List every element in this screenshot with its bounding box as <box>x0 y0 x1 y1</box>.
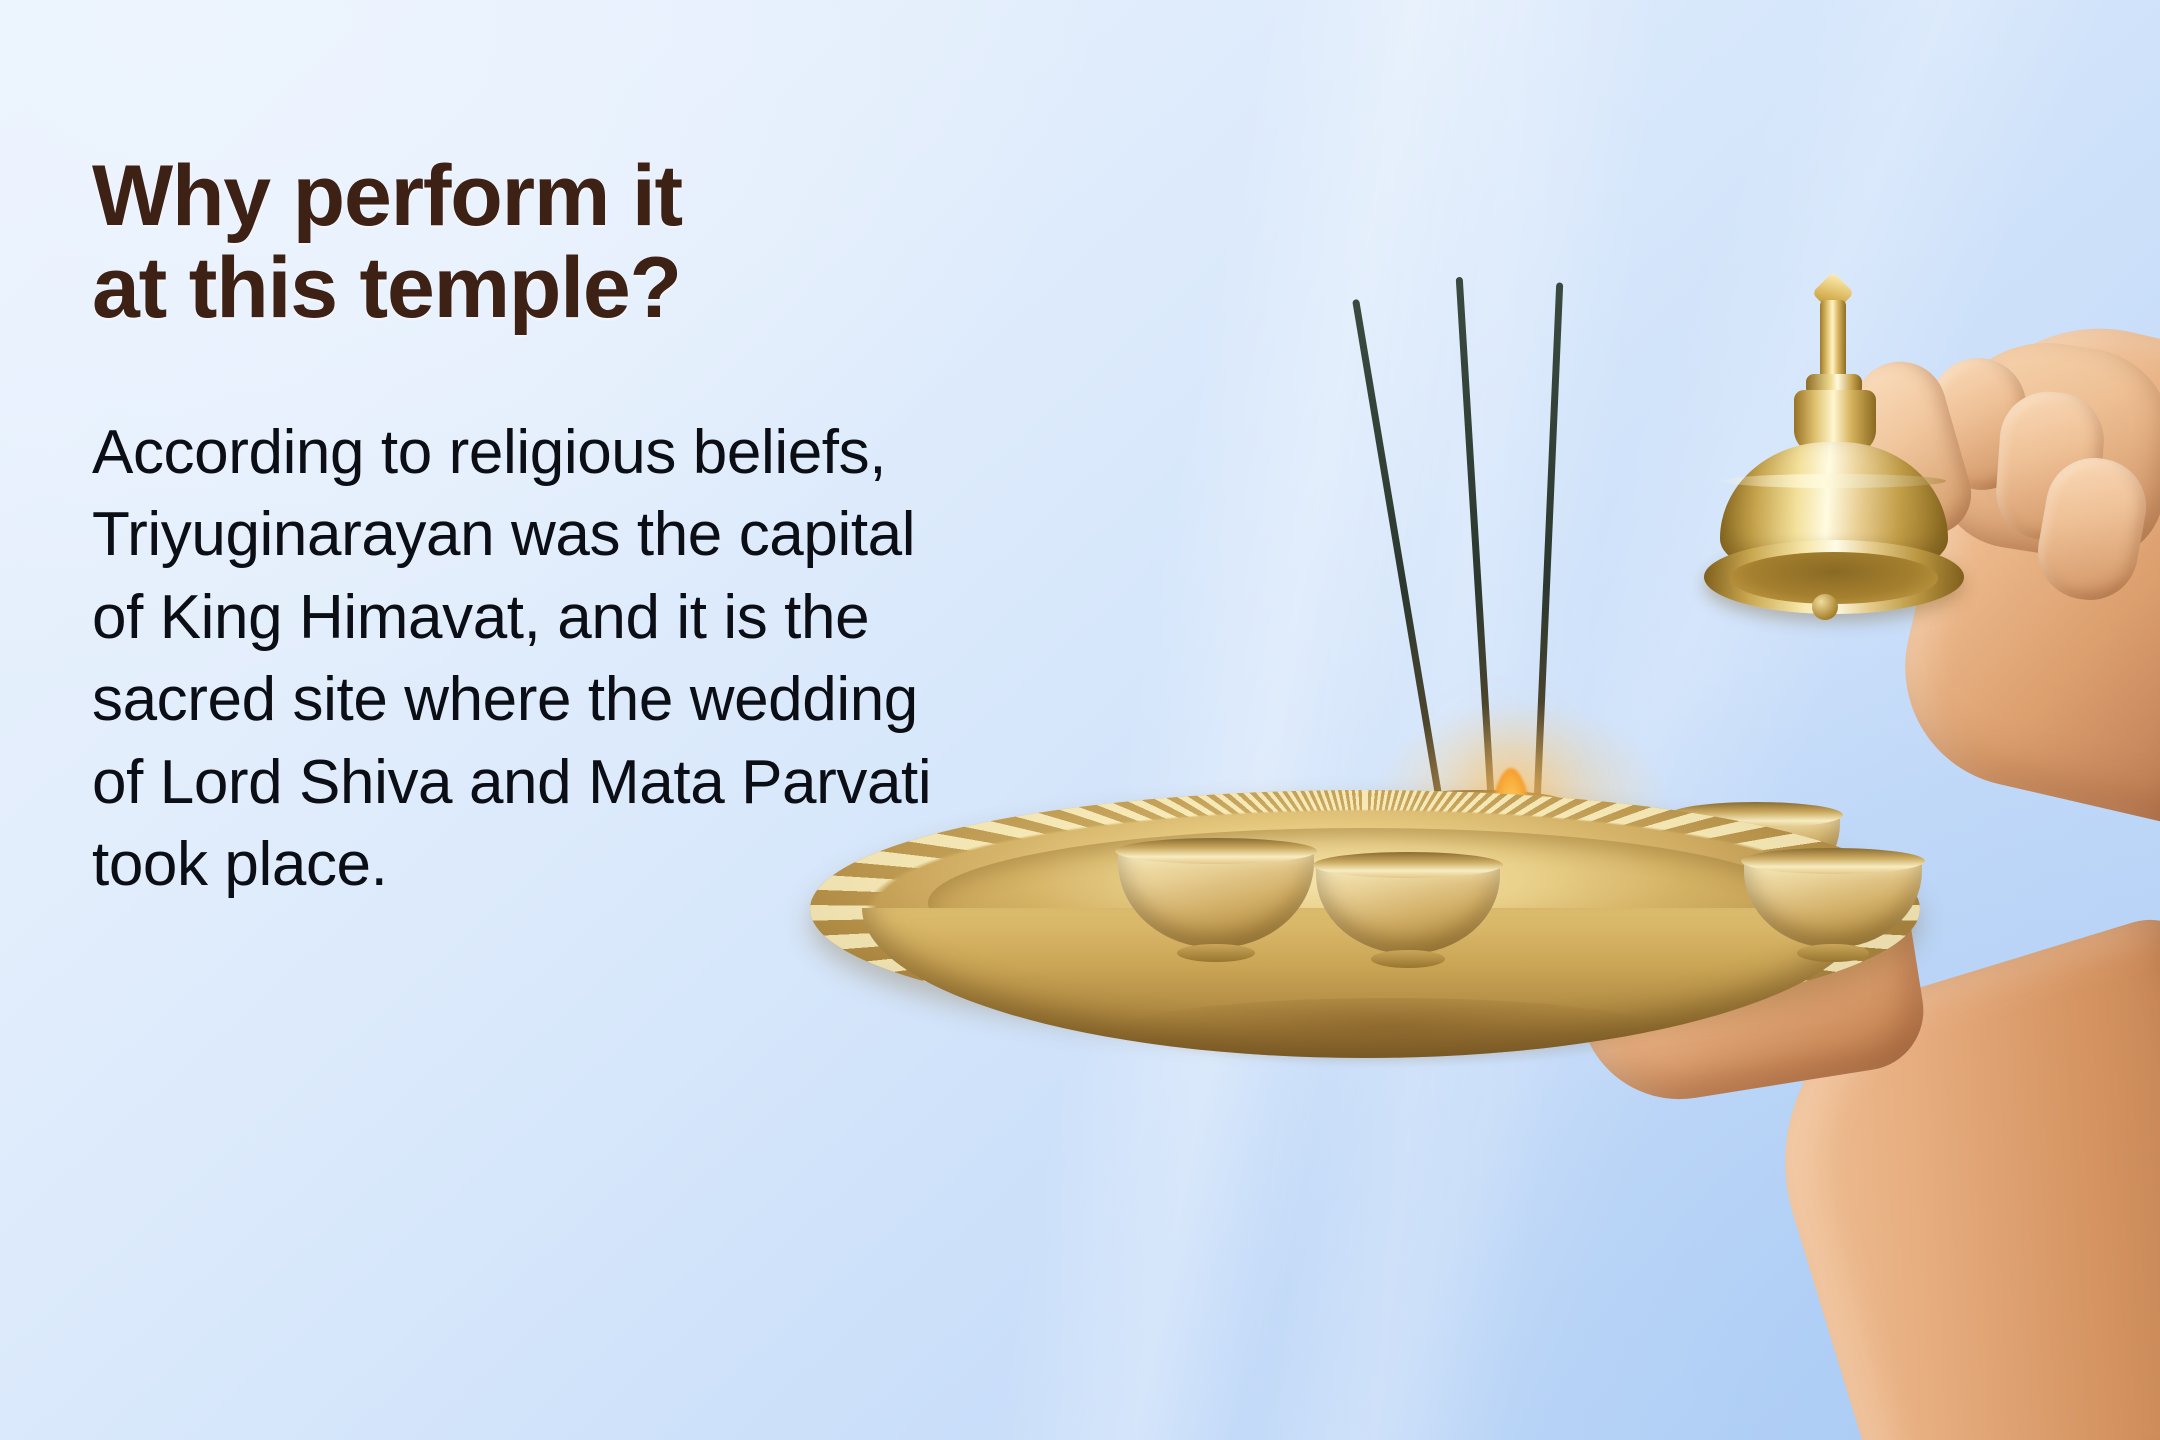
bell-clapper <box>1812 594 1838 620</box>
bell-handle <box>1820 300 1846 384</box>
brass-diya-bowl <box>1118 848 1314 948</box>
brass-diya-bowl <box>1316 862 1500 954</box>
page-title: Why perform it at this temple? <box>92 150 952 334</box>
incense-stick-icon <box>1532 282 1563 838</box>
incense-stick-icon <box>1456 277 1497 838</box>
brass-hand-bell <box>1690 278 1970 618</box>
bell-mouth-inner <box>1730 552 1938 604</box>
bell-and-hand <box>1680 300 2160 820</box>
brass-diya-bowl <box>1744 858 1922 948</box>
puja-thali-photo <box>1020 0 2160 1440</box>
incense-stick-icon <box>1352 299 1449 838</box>
page-title-line-1: Why perform it <box>92 148 682 244</box>
slide-canvas: Why perform it at this temple? According… <box>0 0 2160 1440</box>
bell-highlight-ring <box>1722 474 1946 488</box>
thali-shadow <box>1110 998 1670 1068</box>
page-title-line-2: at this temple? <box>92 242 952 334</box>
